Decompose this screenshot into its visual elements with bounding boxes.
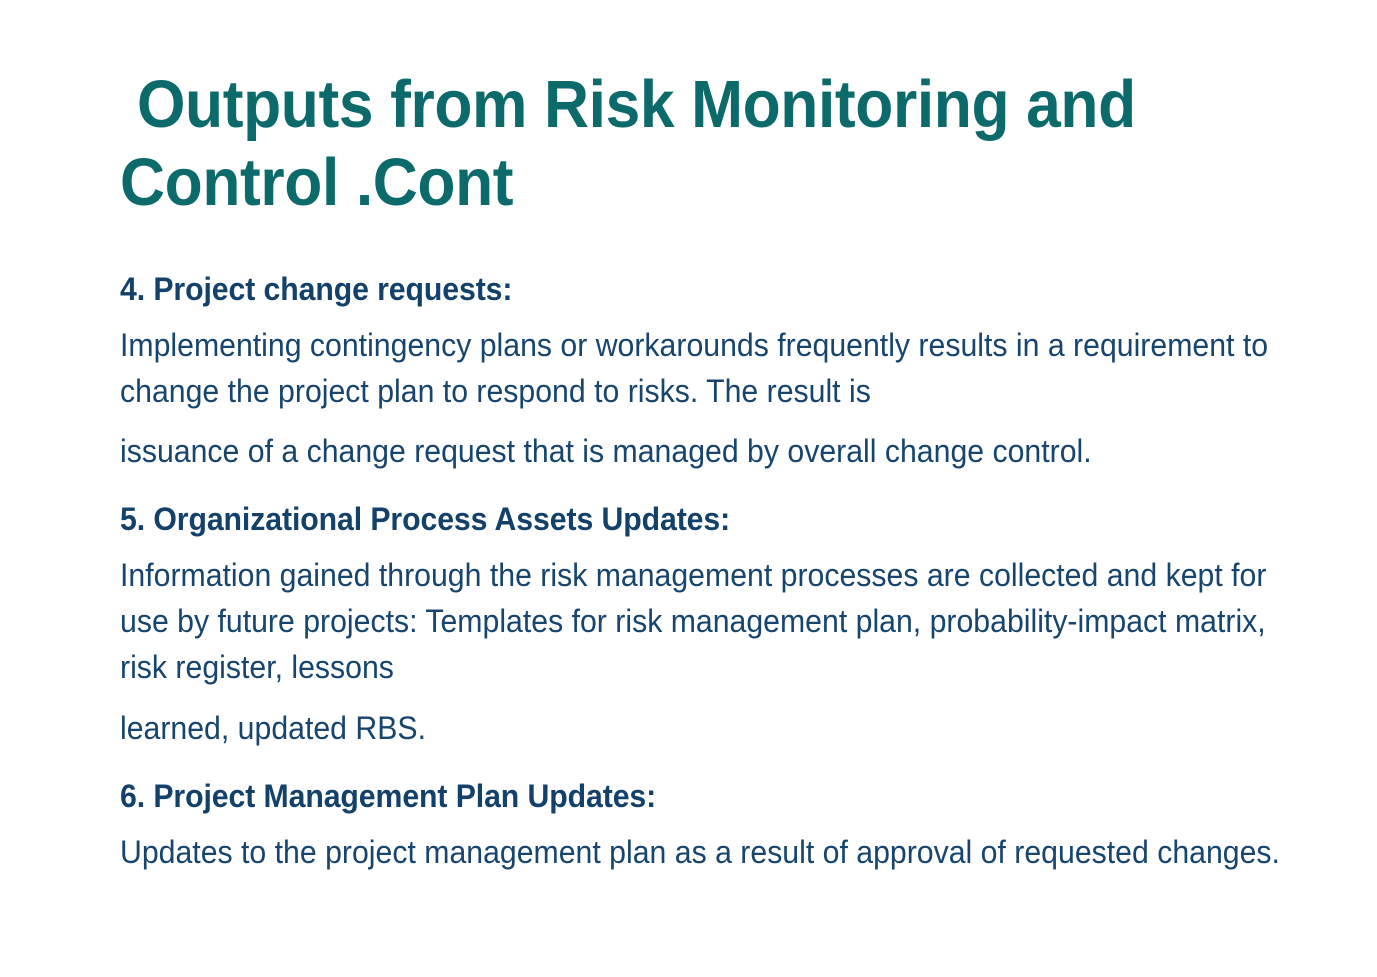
section-heading-4: 4. Project change requests: [120,266,1313,313]
section-paragraph-4-1: Implementing contingency plans or workar… [120,322,1313,414]
section-heading-6: 6. Project Management Plan Updates: [120,773,1313,820]
slide-canvas: Outputs from Risk Monitoring and Control… [0,0,1377,977]
section-paragraph-5-2: learned, updated RBS. [120,705,1313,751]
section-paragraph-4-2: issuance of a change request that is man… [120,428,1313,474]
section-heading-5: 5. Organizational Process Assets Updates… [120,496,1313,543]
slide-body: 4. Project change requests: Implementing… [120,266,1313,875]
page-title: Outputs from Risk Monitoring and Control… [120,66,1227,221]
section-paragraph-6-1: Updates to the project management plan a… [120,829,1313,875]
section-paragraph-5-1: Information gained through the risk mana… [120,552,1313,690]
